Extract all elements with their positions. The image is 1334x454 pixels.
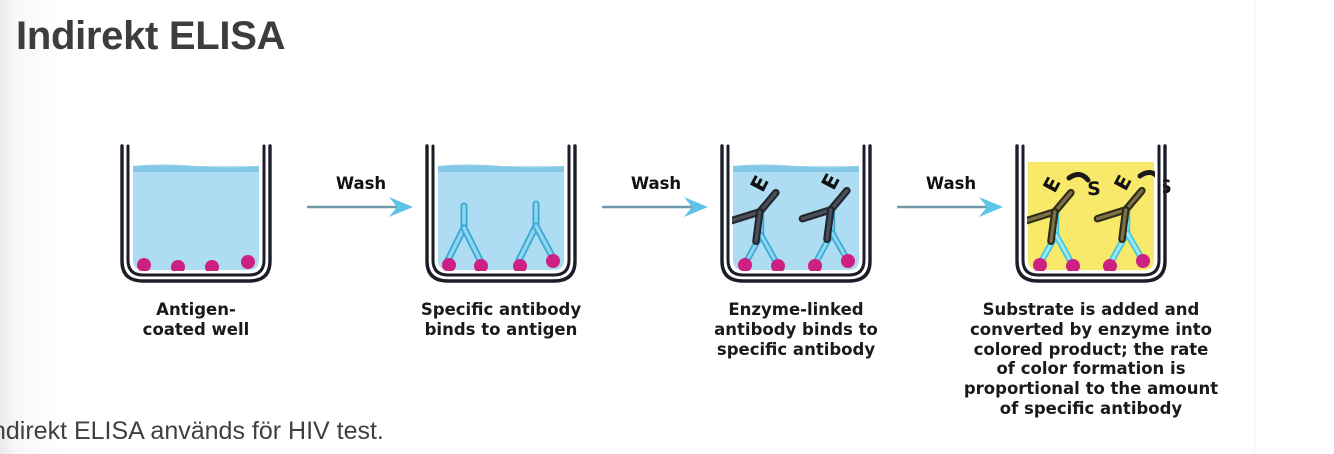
liquid-blue bbox=[438, 166, 564, 270]
caption-line: coated well bbox=[96, 320, 296, 340]
caption-line: specific antibody bbox=[696, 340, 896, 360]
antigen-dot bbox=[513, 259, 527, 273]
antigen-dot bbox=[771, 259, 785, 273]
well-3-graphic: E E bbox=[711, 132, 881, 292]
antigen-dot bbox=[1066, 259, 1080, 273]
elisa-step-1: Antigen- coated well bbox=[96, 132, 296, 340]
caption-line: Specific antibody bbox=[401, 300, 601, 320]
antigen-dot bbox=[474, 259, 488, 273]
caption-line: colored product; the rate bbox=[961, 340, 1221, 360]
well-4: E E S S bbox=[1006, 132, 1176, 292]
elisa-step-4: E E S S Substrat bbox=[991, 132, 1191, 419]
caption-line: of specific antibody bbox=[961, 399, 1221, 419]
liquid-blue bbox=[133, 166, 259, 270]
antigen-dot bbox=[137, 258, 151, 272]
liquid-surface bbox=[733, 165, 859, 173]
slide-canvas: Indirekt ELISA bbox=[0, 0, 1334, 454]
caption-line: antibody binds to bbox=[696, 320, 896, 340]
caption-line: binds to antigen bbox=[401, 320, 601, 340]
step-3-caption: Enzyme-linked antibody binds to specific… bbox=[696, 300, 896, 359]
step-2-caption: Specific antibody binds to antigen bbox=[401, 300, 601, 340]
antigen-dot bbox=[546, 254, 560, 268]
antigen-dot bbox=[808, 259, 822, 273]
well-4-graphic: E E S S bbox=[1006, 132, 1176, 292]
slide-body-text: ndirekt ELISA används för HIV test. bbox=[0, 417, 384, 446]
well-1 bbox=[111, 132, 281, 292]
antigen-dot bbox=[442, 258, 456, 272]
liquid-surface bbox=[133, 165, 259, 173]
well-2-graphic bbox=[416, 132, 586, 292]
step-1-caption: Antigen- coated well bbox=[96, 300, 296, 340]
indirect-elisa-diagram: Antigen- coated well Wash bbox=[96, 132, 1266, 422]
caption-line: Substrate is added and bbox=[961, 300, 1221, 320]
caption-line: of color formation is bbox=[961, 359, 1221, 379]
antigen-dot bbox=[241, 255, 255, 269]
caption-line: converted by enzyme into bbox=[961, 320, 1221, 340]
liquid-surface bbox=[438, 165, 564, 173]
step-4-caption: Substrate is added and converted by enzy… bbox=[961, 300, 1221, 419]
antigen-dot bbox=[738, 258, 752, 272]
well-3: E E bbox=[711, 132, 881, 292]
page-title: Indirekt ELISA bbox=[16, 14, 285, 59]
caption-line: proportional to the amount bbox=[961, 379, 1221, 399]
well-2 bbox=[416, 132, 586, 292]
antigen-dot bbox=[841, 254, 855, 268]
substrate-label-S: S bbox=[1087, 178, 1101, 200]
well-1-graphic bbox=[111, 132, 281, 292]
elisa-step-2: Specific antibody binds to antigen bbox=[401, 132, 601, 340]
antigen-dot bbox=[1033, 258, 1047, 272]
elisa-step-3: E E Enzyme-linked antibody binds to spec… bbox=[696, 132, 896, 359]
antigen-dot bbox=[1103, 259, 1117, 273]
antigen-dot bbox=[1136, 254, 1150, 268]
caption-line: Antigen- bbox=[96, 300, 296, 320]
caption-line: Enzyme-linked bbox=[696, 300, 896, 320]
